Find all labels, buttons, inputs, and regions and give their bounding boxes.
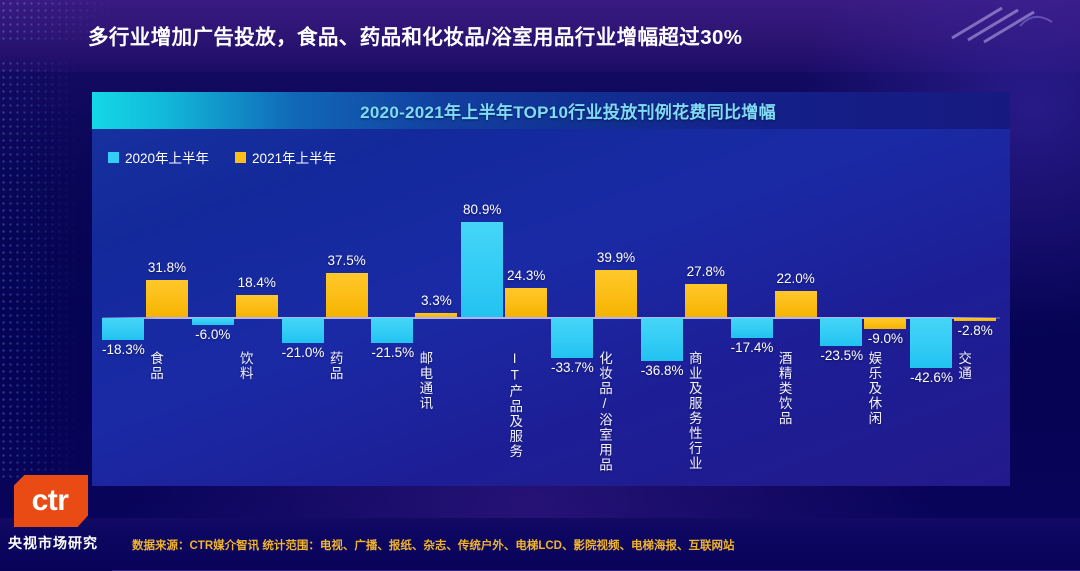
bar-2021[interactable] xyxy=(505,288,547,317)
bar-group: -6.0%18.4%饮料 xyxy=(192,175,282,486)
bar-value-label: 18.4% xyxy=(236,275,278,290)
bar-2021[interactable] xyxy=(326,273,368,317)
bar-2020[interactable] xyxy=(102,318,144,340)
bar-value-label: -18.3% xyxy=(102,342,144,357)
swoosh-icon xyxy=(942,4,1062,46)
chart-title: 2020-2021年上半年TOP10行业投放刊例花费同比增幅 xyxy=(360,98,776,123)
bar-value-label: 24.3% xyxy=(505,268,547,283)
bar-value-label: -9.0% xyxy=(864,331,906,346)
bar-2020[interactable] xyxy=(641,318,683,361)
bar-2020[interactable] xyxy=(192,318,234,325)
bars-container: -21.5%3.3% xyxy=(371,175,461,486)
category-label: 娱乐及休闲 xyxy=(863,351,883,426)
bars-container: -17.4%22.0% xyxy=(731,175,821,486)
bar-group: 80.9%24.3%IT产品及服务 xyxy=(461,175,551,486)
chart-legend: 2020年上半年2021年上半年 xyxy=(108,147,336,167)
data-source-note: 数据来源：CTR媒介智讯 统计范围：电视、广播、报纸、杂志、传统户外、电梯LCD… xyxy=(132,537,734,553)
bars-container: -23.5%-9.0% xyxy=(820,175,910,486)
category-label: 化妆品/浴室用品 xyxy=(594,351,614,473)
bar-2020[interactable] xyxy=(282,318,324,343)
legend-item[interactable]: 2020年上半年 xyxy=(108,147,209,167)
bar-group: -21.5%3.3%邮电通讯 xyxy=(371,175,461,486)
plot-area: -18.3%31.8%食品-6.0%18.4%饮料-21.0%37.5%药品-2… xyxy=(102,175,1000,486)
bar-2021[interactable] xyxy=(864,318,906,329)
chart-body: 2020年上半年2021年上半年 -18.3%31.8%食品-6.0%18.4%… xyxy=(92,129,1010,486)
legend-label: 2021年上半年 xyxy=(252,147,336,167)
bar-2020[interactable] xyxy=(820,318,862,346)
bar-group: -21.0%37.5%药品 xyxy=(282,175,372,486)
registered-trademark-icon: ® xyxy=(85,473,92,483)
bar-2021[interactable] xyxy=(595,270,637,317)
bar-2021[interactable] xyxy=(775,291,817,317)
category-label: 食品 xyxy=(145,351,165,381)
bar-2020[interactable] xyxy=(371,318,413,343)
bar-group: -33.7%39.9%化妆品/浴室用品 xyxy=(551,175,641,486)
bar-group: -18.3%31.8%食品 xyxy=(102,175,192,486)
page-title: 多行业增加广告投放，食品、药品和化妆品/浴室用品行业增幅超过30% xyxy=(88,20,742,50)
ctr-logo-wordmark: ctr xyxy=(32,486,71,516)
chart-panel: 2020-2021年上半年TOP10行业投放刊例花费同比增幅 2020年上半年2… xyxy=(92,92,1010,486)
legend-swatch-icon xyxy=(235,152,246,163)
category-label: 商业及服务性行业 xyxy=(684,351,704,471)
bar-value-label: 3.3% xyxy=(415,293,457,308)
bar-2021[interactable] xyxy=(236,295,278,317)
bar-2020[interactable] xyxy=(910,318,952,368)
bar-2020[interactable] xyxy=(551,318,593,358)
bar-group: -23.5%-9.0%娱乐及休闲 xyxy=(820,175,910,486)
bar-2021[interactable] xyxy=(685,284,727,317)
legend-item[interactable]: 2021年上半年 xyxy=(235,147,336,167)
bar-value-label: -36.8% xyxy=(641,363,683,378)
category-label: 药品 xyxy=(325,351,345,381)
bar-value-label: -2.8% xyxy=(954,323,996,338)
category-label: IT产品及服务 xyxy=(504,351,524,459)
halftone-dots-left-decoration xyxy=(0,60,92,480)
bar-value-label: 31.8% xyxy=(146,260,188,275)
category-label: 酒精类饮品 xyxy=(774,351,794,426)
bar-group: -42.6%-2.8%交通 xyxy=(910,175,1000,486)
bar-value-label: 80.9% xyxy=(461,202,503,217)
bar-value-label: -6.0% xyxy=(192,327,234,342)
bar-group: -36.8%27.8%商业及服务性行业 xyxy=(641,175,731,486)
bars-container: -18.3%31.8% xyxy=(102,175,192,486)
bar-2021[interactable] xyxy=(954,318,996,321)
ctr-logo-mark: ctr ® xyxy=(14,475,88,527)
chart-title-banner: 2020-2021年上半年TOP10行业投放刊例花费同比增幅 xyxy=(92,92,1010,129)
bar-value-label: 37.5% xyxy=(326,253,368,268)
bar-2020[interactable] xyxy=(461,222,503,317)
bar-value-label: -21.0% xyxy=(282,345,324,360)
bar-group: -17.4%22.0%酒精类饮品 xyxy=(731,175,821,486)
bar-2021[interactable] xyxy=(415,313,457,317)
bar-2021[interactable] xyxy=(146,280,188,317)
ctr-company-name: 央视市场研究 xyxy=(8,533,104,553)
bars-container: -6.0%18.4% xyxy=(192,175,282,486)
bar-value-label: -42.6% xyxy=(910,370,952,385)
category-label: 饮料 xyxy=(235,351,255,381)
bar-2020[interactable] xyxy=(731,318,773,338)
bar-value-label: -17.4% xyxy=(731,340,773,355)
bar-value-label: 39.9% xyxy=(595,250,637,265)
bar-groups: -18.3%31.8%食品-6.0%18.4%饮料-21.0%37.5%药品-2… xyxy=(102,175,1000,486)
bar-value-label: -33.7% xyxy=(551,360,593,375)
ctr-logo: ctr ® 央视市场研究 xyxy=(8,475,104,563)
category-label: 邮电通讯 xyxy=(414,351,434,411)
legend-swatch-icon xyxy=(108,152,119,163)
bars-container: -21.0%37.5% xyxy=(282,175,372,486)
bar-value-label: -23.5% xyxy=(820,348,862,363)
legend-label: 2020年上半年 xyxy=(125,147,209,167)
category-label: 交通 xyxy=(953,351,973,381)
bar-value-label: 27.8% xyxy=(685,264,727,279)
bar-value-label: -21.5% xyxy=(371,345,413,360)
slide-canvas: 多行业增加广告投放，食品、药品和化妆品/浴室用品行业增幅超过30% 2020-2… xyxy=(0,0,1080,571)
bar-value-label: 22.0% xyxy=(775,271,817,286)
bars-container: -42.6%-2.8% xyxy=(910,175,1000,486)
